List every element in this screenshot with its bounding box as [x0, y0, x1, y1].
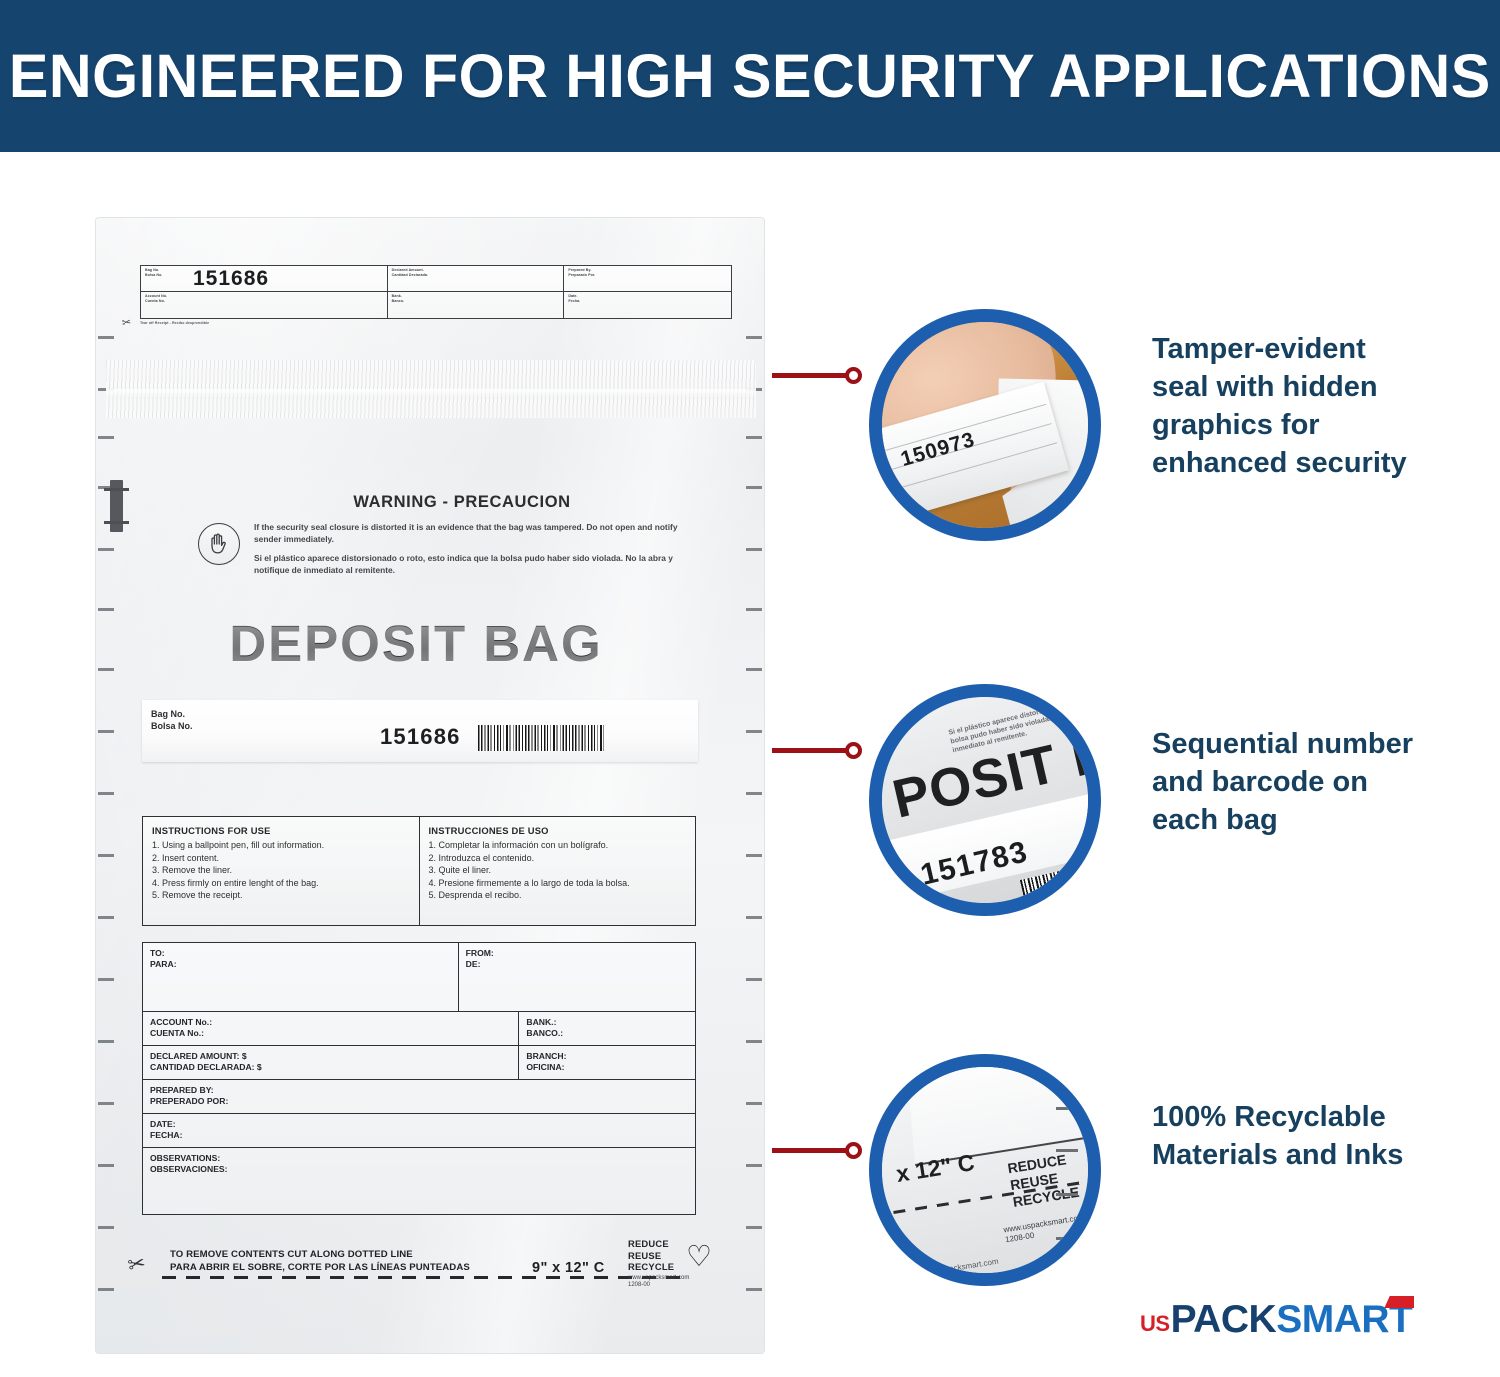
receipt-stub: Bag No. Bolsa No. 151686 Declared Amount…	[140, 265, 732, 319]
stub-prepared-label-es: Preparado Por.	[568, 273, 731, 278]
form-label-date-es: FECHA:	[150, 1130, 688, 1141]
instructions-en-step: 3. Remove the liner.	[152, 864, 410, 877]
recycle-reuse: REUSE	[628, 1250, 738, 1262]
bag-size-label: 9" x 12" C	[532, 1260, 605, 1276]
instructions-es-step: 2. Introduzca el contenido.	[429, 852, 687, 865]
form-field-observations: OBSERVATIONS: OBSERVACIONES:	[143, 1148, 695, 1214]
stub-bank-label-es: Banco.	[392, 299, 564, 304]
form-label-account-es: CUENTA No.:	[150, 1028, 511, 1039]
recycle-recycle: RECYCLE	[628, 1261, 738, 1273]
form-field-declared-amount: DECLARED AMOUNT: $ CANTIDAD DECLARADA: $	[143, 1046, 518, 1079]
footer-code: 1208-00	[628, 1282, 738, 1290]
form-row: TO: PARA: FROM: DE:	[143, 943, 695, 1012]
heart-recycle-icon: ♡	[686, 1243, 712, 1271]
perforation-tick	[746, 1040, 762, 1043]
stub-date-label-es: Fecha.	[568, 299, 731, 304]
connector-dot-3	[845, 1142, 862, 1159]
instructions-es-step: 4. Presione firmemente a lo largo de tod…	[429, 877, 687, 890]
connector-line-3	[772, 1148, 850, 1153]
callout-photo-sequential-number: Si el plástico aparece distorsionado o r…	[869, 684, 1101, 916]
instructions-es-step: 1. Completar la información con un bolíg…	[429, 839, 687, 852]
perforation-tick	[746, 1226, 762, 1229]
perforation-tick	[98, 854, 114, 857]
instructions-spanish: INSTRUCCIONES DE USO 1. Completar la inf…	[419, 817, 696, 925]
callout-text-recyclable: 100% Recyclable Materials and Inks	[1152, 1098, 1422, 1174]
form-field-from: FROM: DE:	[458, 943, 695, 1011]
stub-cell-declared-amount: Declared Amount. Cantidad Declarada.	[388, 266, 565, 292]
form-label-observations-es: OBSERVACIONES:	[150, 1164, 688, 1175]
barcode-icon	[478, 725, 604, 751]
form-field-branch: BRANCH: OFICINA:	[518, 1046, 695, 1079]
recycle-words: REDUCE REUSE RECYCLE	[628, 1238, 738, 1273]
recycle-reduce: REDUCE	[628, 1238, 738, 1250]
bag-no-value: 151686	[380, 724, 461, 750]
cut-instructions-es: PARA ABRIR EL SOBRE, CORTE POR LAS LÍNEA…	[170, 1261, 470, 1274]
form-row: ACCOUNT No.: CUENTA No.: BANK.: BANCO.:	[143, 1012, 695, 1046]
bag-edge-clip	[110, 480, 123, 532]
perforation-tick	[98, 608, 114, 611]
perforation-tick	[746, 1102, 762, 1105]
form-label-to-es: PARA:	[150, 959, 451, 970]
deposit-bag-title: DEPOSIT BAG	[96, 614, 764, 673]
perforation-ticks-closeup	[1048, 1107, 1078, 1277]
form-row: PREPARED BY: PREPERADO POR:	[143, 1080, 695, 1114]
perforation-tick	[98, 1102, 114, 1105]
stub-cell-account: Account No. Cuenta No.	[141, 292, 388, 318]
connector-dot-2	[845, 742, 862, 759]
perforation-tick	[98, 1288, 114, 1291]
instructions-en-step: 5. Remove the receipt.	[152, 889, 410, 902]
bag-no-label-es: Bolsa No.	[151, 721, 193, 733]
stub-tear-note: Tear off Receipt - Recibo desprendible	[140, 321, 209, 325]
perforation-tick	[746, 548, 762, 551]
form-label-account-en: ACCOUNT No.:	[150, 1017, 511, 1028]
callout-photo-tamper-seal: 150973	[869, 309, 1101, 541]
perforation-tick	[98, 548, 114, 551]
scissors-icon: ✂	[126, 1250, 148, 1278]
stub-bag-no-value: 151686	[193, 267, 269, 291]
callout-2-image: Si el plástico aparece distorsionado o r…	[882, 697, 1088, 903]
bag-number-label-strip: Bag No. Bolsa No. 151686	[142, 700, 698, 762]
perforation-tick	[98, 436, 114, 439]
form-label-from-es: DE:	[466, 959, 688, 970]
scissors-icon: ✂	[121, 315, 132, 329]
perforation-tick	[98, 978, 114, 981]
logo-us-text: US	[1140, 1309, 1170, 1339]
perforation-tick	[746, 336, 762, 339]
instructions-english: INSTRUCTIONS FOR USE 1. Using a ballpoin…	[143, 817, 419, 925]
form-label-observations-en: OBSERVATIONS:	[150, 1153, 688, 1164]
header-banner: ENGINEERED FOR HIGH SECURITY APPLICATION…	[0, 0, 1500, 152]
perforation-tick	[746, 1164, 762, 1167]
form-field-account: ACCOUNT No.: CUENTA No.:	[143, 1012, 518, 1045]
stub-cell-date: Date. Fecha.	[564, 292, 731, 318]
perforation-tick	[98, 730, 114, 733]
stub-declared-label-es: Cantidad Declarada.	[392, 273, 564, 278]
perforation-tick	[98, 1164, 114, 1167]
perforation-tick	[746, 436, 762, 439]
form-label-branch-en: BRANCH:	[526, 1051, 688, 1062]
form-row: DECLARED AMOUNT: $ CANTIDAD DECLARADA: $…	[143, 1046, 695, 1080]
recycle-url-block: www.uspacksmart.com 1208-00	[628, 1275, 738, 1290]
perforation-tick	[98, 336, 114, 339]
form-label-bank-es: BANCO.:	[526, 1028, 688, 1039]
callout-3-image: x 12" C REDUCE REUSE RECYCLE ♡ www.uspac…	[882, 1067, 1088, 1273]
perforation-tick	[746, 1288, 762, 1291]
form-field-date: DATE: FECHA:	[143, 1114, 695, 1147]
perforation-tick	[746, 792, 762, 795]
form-label-from-en: FROM:	[466, 948, 688, 959]
instructions-en-heading: INSTRUCTIONS FOR USE	[152, 825, 410, 836]
form-field-prepared-by: PREPARED BY: PREPERADO POR:	[143, 1080, 695, 1113]
instructions-box: INSTRUCTIONS FOR USE 1. Using a ballpoin…	[142, 816, 696, 926]
stub-cell-prepared-by: Prepared By. Preparado Por.	[564, 266, 731, 292]
instructions-en-step: 4. Press firmly on entire lenght of the …	[152, 877, 410, 890]
form-label-bank-en: BANK.:	[526, 1017, 688, 1028]
instructions-es-step: 3. Quite el liner.	[429, 864, 687, 877]
callout-text-tamper-seal: Tamper-evident seal with hidden graphics…	[1152, 330, 1422, 482]
bag-form-fields: TO: PARA: FROM: DE: ACCOUNT No.: CUENTA …	[142, 942, 696, 1215]
form-row: DATE: FECHA:	[143, 1114, 695, 1148]
form-label-declared-es: CANTIDAD DECLARADA: $	[150, 1062, 511, 1073]
callout-1-image: 150973	[882, 322, 1088, 528]
bag-no-label-en: Bag No.	[151, 709, 193, 721]
warning-text: If the security seal closure is distorte…	[254, 522, 686, 576]
perforation-tick	[746, 916, 762, 919]
cut-instructions-en: TO REMOVE CONTENTS CUT ALONG DOTTED LINE	[170, 1248, 470, 1261]
connector-line-1	[772, 373, 850, 378]
perforation-tick	[98, 792, 114, 795]
form-label-declared-en: DECLARED AMOUNT: $	[150, 1051, 511, 1062]
form-label-prepared-en: PREPARED BY:	[150, 1085, 688, 1096]
warning-title: WARNING - PRECAUCION	[238, 493, 686, 512]
form-label-branch-es: OFICINA:	[526, 1062, 688, 1073]
perforation-tick	[98, 1040, 114, 1043]
page-title: ENGINEERED FOR HIGH SECURITY APPLICATION…	[9, 41, 1491, 111]
recycle-block: REDUCE REUSE RECYCLE ♡ www.uspacksmart.c…	[628, 1238, 738, 1290]
warning-block: WARNING - PRECAUCION If the security sea…	[186, 493, 686, 584]
warning-text-en: If the security seal closure is distorte…	[254, 522, 686, 545]
stub-account-label-es: Cuenta No.	[145, 299, 387, 304]
cut-instructions: TO REMOVE CONTENTS CUT ALONG DOTTED LINE…	[170, 1248, 470, 1274]
instructions-en-step: 2. Insert content.	[152, 852, 410, 865]
logo-smart-text: SMART	[1276, 1300, 1412, 1339]
form-label-date-en: DATE:	[150, 1119, 688, 1130]
logo-pack-text: PACK	[1171, 1300, 1277, 1339]
deposit-bag-photo: Bag No. Bolsa No. 151686 Declared Amount…	[96, 218, 764, 1353]
perforation-tick	[746, 608, 762, 611]
warning-text-es: Si el plástico aparece distorsionado o r…	[254, 553, 686, 576]
stub-cell-bag-no: Bag No. Bolsa No. 151686	[141, 266, 388, 292]
dotted-cut-line	[162, 1276, 682, 1279]
bag-no-labels: Bag No. Bolsa No.	[151, 709, 193, 732]
instructions-en-step: 1. Using a ballpoint pen, fill out infor…	[152, 839, 410, 852]
perforation-tick	[98, 916, 114, 919]
hand-stop-icon	[198, 523, 240, 565]
perforation-tick	[746, 978, 762, 981]
form-field-bank: BANK.: BANCO.:	[518, 1012, 695, 1045]
form-field-to: TO: PARA:	[143, 943, 458, 1011]
heart-recycle-icon-closeup: ♡	[1091, 1158, 1101, 1206]
perforation-tick	[746, 854, 762, 857]
perforation-tick	[98, 1226, 114, 1229]
stub-cell-bank: Bank. Banco.	[388, 292, 565, 318]
footer-url: www.uspacksmart.com	[628, 1275, 738, 1283]
instructions-es-step: 5. Desprenda el recibo.	[429, 889, 687, 902]
perforation-tick	[746, 486, 762, 489]
form-label-to-en: TO:	[150, 948, 451, 959]
perforation-tick	[746, 730, 762, 733]
form-label-prepared-es: PREPERADO POR:	[150, 1096, 688, 1107]
callout-photo-recyclable: x 12" C REDUCE REUSE RECYCLE ♡ www.uspac…	[869, 1054, 1101, 1286]
connector-line-2	[772, 748, 850, 753]
form-row: OBSERVATIONS: OBSERVACIONES:	[143, 1148, 695, 1214]
bag-footer: ✂ TO REMOVE CONTENTS CUT ALONG DOTTED LI…	[120, 1236, 736, 1298]
callout-text-sequential-number: Sequential number and barcode on each ba…	[1152, 725, 1422, 839]
tamper-seal-strip	[106, 360, 756, 418]
connector-dot-1	[845, 367, 862, 384]
uspacksmart-logo: US PACK SMART	[1140, 1300, 1412, 1339]
instructions-es-heading: INSTRUCCIONES DE USO	[429, 825, 687, 836]
